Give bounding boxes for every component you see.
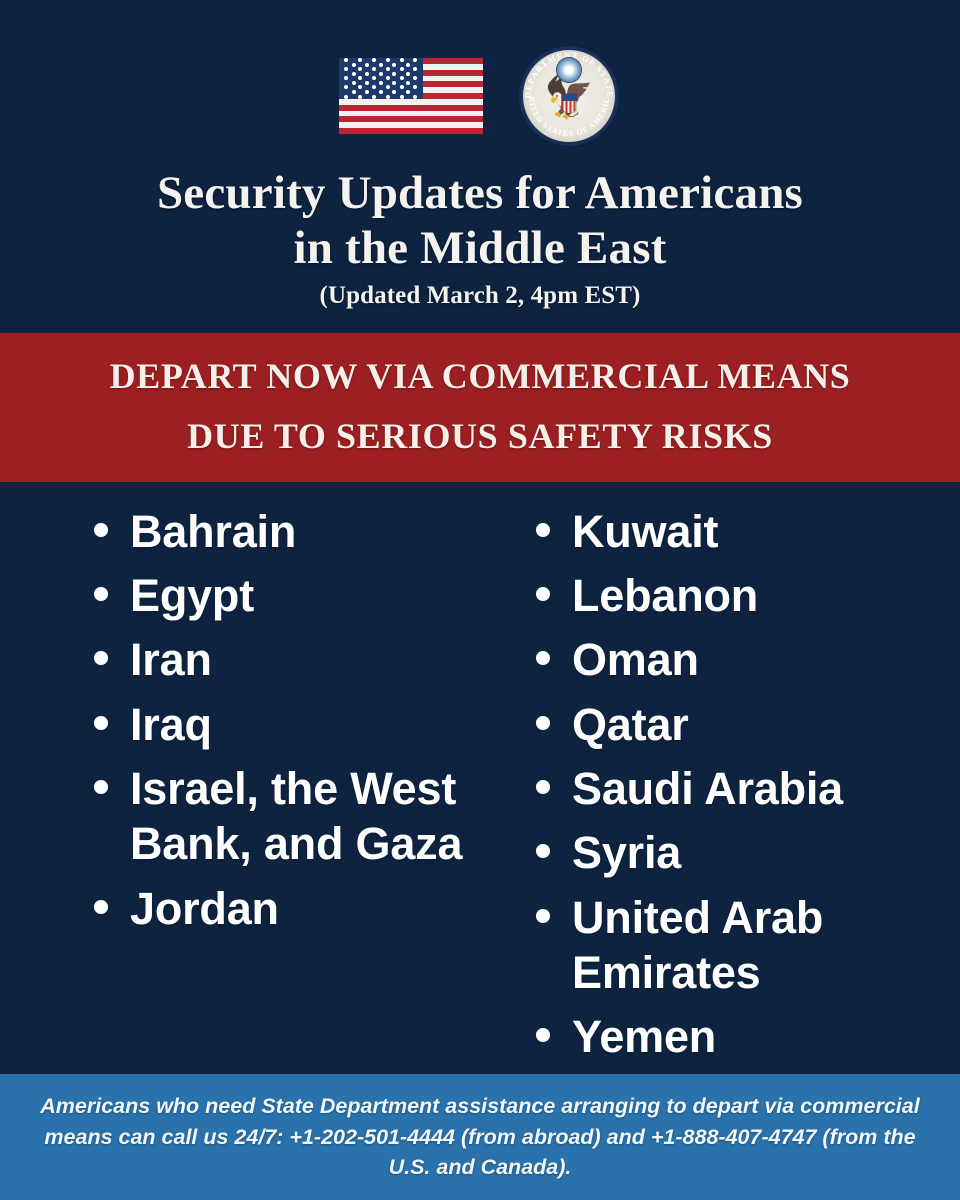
seal-glory-icon bbox=[557, 58, 581, 82]
title-block: Security Updates for Americans in the Mi… bbox=[157, 166, 803, 310]
bullet-icon bbox=[94, 716, 108, 730]
emblem-row: DEPARTMENT OF STATE UNITED STATES OF AME… bbox=[339, 44, 621, 148]
country-name: Lebanon bbox=[572, 568, 758, 623]
country-list-left-column: Bahrain Egypt Iran Iraq Israel, the West… bbox=[40, 504, 480, 1074]
country-name: Bahrain bbox=[130, 504, 296, 559]
country-name: Israel, the West Bank, and Gaza bbox=[130, 761, 480, 872]
bullet-icon bbox=[94, 780, 108, 794]
country-name: Iran bbox=[130, 632, 212, 687]
list-item: Egypt bbox=[40, 568, 480, 623]
bullet-icon bbox=[94, 900, 108, 914]
list-item: Lebanon bbox=[528, 568, 920, 623]
country-list-right-column: Kuwait Lebanon Oman Qatar Saudi Arabia S… bbox=[480, 504, 920, 1074]
list-item: Yemen bbox=[528, 1009, 920, 1064]
seal-shield-icon bbox=[562, 94, 577, 113]
bullet-icon bbox=[536, 780, 550, 794]
poster-header: DEPARTMENT OF STATE UNITED STATES OF AME… bbox=[0, 0, 960, 310]
page-subtitle: (Updated March 2, 4pm EST) bbox=[157, 282, 803, 310]
list-item: Saudi Arabia bbox=[528, 761, 920, 816]
bullet-icon bbox=[536, 909, 550, 923]
list-item: Iraq bbox=[40, 697, 480, 752]
alert-banner: DEPART NOW VIA COMMERCIAL MEANS DUE TO S… bbox=[0, 333, 960, 482]
footer-contact-band: Americans who need State Department assi… bbox=[0, 1074, 960, 1200]
list-item: Syria bbox=[528, 825, 920, 880]
bullet-icon bbox=[536, 523, 550, 537]
page-title-line-2: in the Middle East bbox=[157, 221, 803, 276]
country-name: Qatar bbox=[572, 697, 689, 752]
page-title: Security Updates for Americans in the Mi… bbox=[157, 166, 803, 277]
bullet-icon bbox=[94, 587, 108, 601]
us-flag-icon bbox=[339, 58, 483, 134]
list-item: Iran bbox=[40, 632, 480, 687]
list-item: Israel, the West Bank, and Gaza bbox=[40, 761, 480, 872]
country-name: Egypt bbox=[130, 568, 254, 623]
security-update-poster: DEPARTMENT OF STATE UNITED STATES OF AME… bbox=[0, 0, 960, 1200]
department-of-state-seal-icon: DEPARTMENT OF STATE UNITED STATES OF AME… bbox=[517, 44, 621, 148]
alert-banner-line-2: DUE TO SERIOUS SAFETY RISKS bbox=[187, 407, 773, 467]
bullet-icon bbox=[536, 651, 550, 665]
bullet-icon bbox=[94, 523, 108, 537]
list-item: Oman bbox=[528, 632, 920, 687]
country-name: Saudi Arabia bbox=[572, 761, 843, 816]
country-name: Oman bbox=[572, 632, 699, 687]
bullet-icon bbox=[536, 716, 550, 730]
footer-text: Americans who need State Department assi… bbox=[34, 1091, 926, 1183]
country-name: Kuwait bbox=[572, 504, 718, 559]
country-name: Jordan bbox=[130, 881, 279, 936]
list-item: Qatar bbox=[528, 697, 920, 752]
list-item: Kuwait bbox=[528, 504, 920, 559]
alert-banner-line-1: DEPART NOW VIA COMMERCIAL MEANS bbox=[110, 347, 851, 407]
country-name: Iraq bbox=[130, 697, 212, 752]
country-name: Yemen bbox=[572, 1009, 716, 1064]
list-item: Jordan bbox=[40, 881, 480, 936]
country-name: Syria bbox=[572, 825, 681, 880]
country-name: United Arab Emirates bbox=[572, 890, 920, 1001]
page-title-line-1: Security Updates for Americans bbox=[157, 167, 803, 219]
bullet-icon bbox=[94, 651, 108, 665]
country-list: Bahrain Egypt Iran Iraq Israel, the West… bbox=[0, 482, 960, 1074]
bullet-icon bbox=[536, 844, 550, 858]
bullet-icon bbox=[536, 1028, 550, 1042]
bullet-icon bbox=[536, 587, 550, 601]
list-item: Bahrain bbox=[40, 504, 480, 559]
list-item: United Arab Emirates bbox=[528, 890, 920, 1001]
